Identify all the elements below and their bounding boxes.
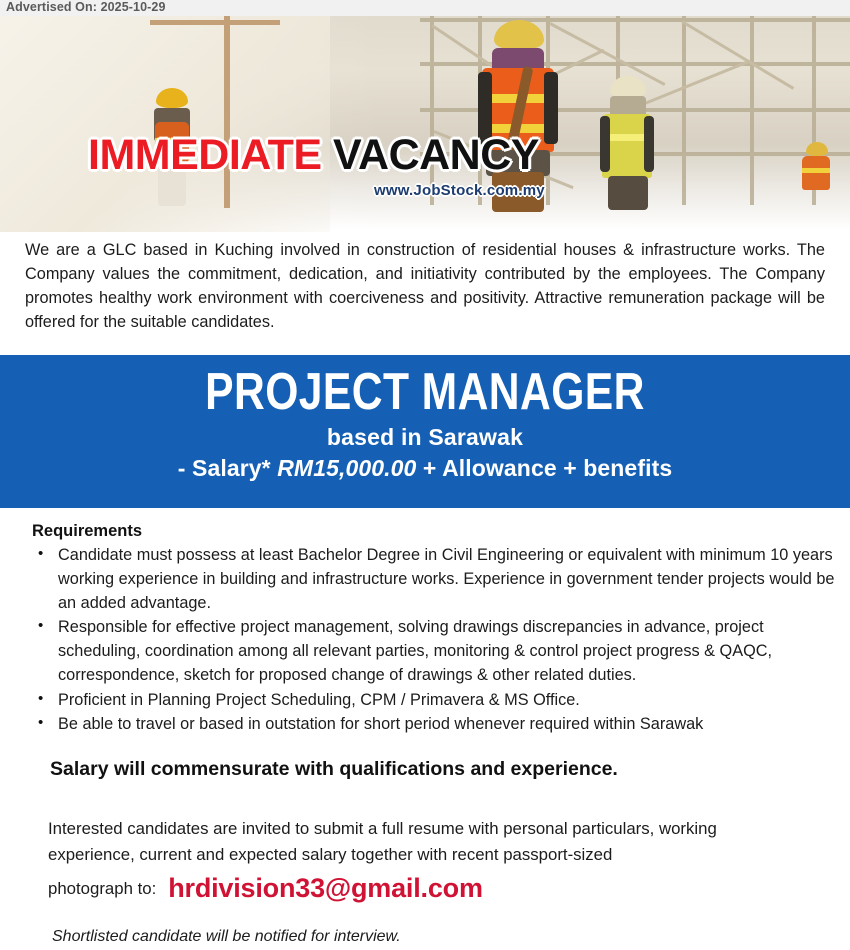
- list-item: Candidate must possess at least Bachelor…: [32, 544, 850, 615]
- hero-banner: IMMEDIATE VACANCY www.JobStock.com.my: [0, 0, 850, 232]
- hero-headline: IMMEDIATE VACANCY: [88, 134, 539, 177]
- apply-instructions: Interested candidates are invited to sub…: [48, 816, 808, 867]
- job-salary-line: - Salary* RM15,000.00 + Allowance + bene…: [0, 455, 850, 482]
- contact-email[interactable]: hrdivision33@gmail.com: [168, 873, 483, 903]
- photograph-line: photograph to:hrdivision33@gmail.com: [48, 873, 483, 904]
- list-item: Responsible for effective project manage…: [32, 616, 850, 687]
- hero-website-url: www.JobStock.com.my: [374, 182, 545, 199]
- advertised-on-label: Advertised On: 2025-10-29: [6, 0, 166, 14]
- job-title: PROJECT MANAGER: [77, 365, 774, 420]
- headline-immediate: IMMEDIATE: [88, 131, 322, 179]
- job-location: based in Sarawak: [0, 424, 850, 451]
- salary-suffix: + Allowance + benefits: [416, 455, 672, 481]
- company-intro-paragraph: We are a GLC based in Kuching involved i…: [25, 238, 825, 334]
- list-item: Be able to travel or based in outstation…: [32, 713, 850, 737]
- shortlisted-note: Shortlisted candidate will be notified f…: [52, 928, 401, 946]
- job-title-banner: PROJECT MANAGER based in Sarawak - Salar…: [0, 355, 850, 508]
- worker-far-right: [796, 142, 836, 212]
- requirements-list: Candidate must possess at least Bachelor…: [32, 544, 850, 738]
- photograph-label: photograph to:: [48, 879, 156, 898]
- salary-commensurate-note: Salary will commensurate with qualificat…: [50, 758, 618, 781]
- advertised-bar: Advertised On: 2025-10-29: [0, 0, 850, 16]
- headline-vacancy: VACANCY: [333, 131, 539, 179]
- list-item: Proficient in Planning Project Schedulin…: [32, 689, 850, 713]
- requirements-heading: Requirements: [32, 522, 142, 541]
- salary-amount: RM15,000.00: [277, 455, 416, 481]
- worker-right: [592, 76, 662, 210]
- salary-prefix: - Salary*: [178, 455, 277, 481]
